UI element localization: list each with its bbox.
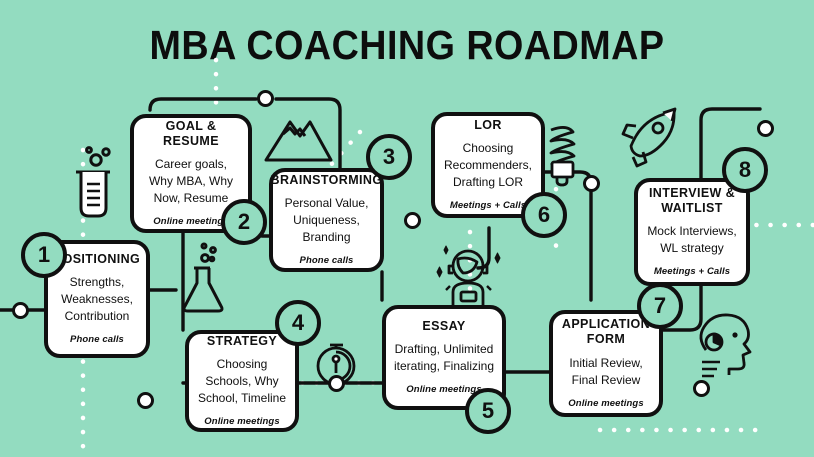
mountain-icon [266,122,331,160]
connector-node-head [693,380,710,397]
badge-number: 7 [654,293,666,319]
card-footer: Meetings + Calls [450,200,526,211]
card-footer: Online meetings [153,216,228,227]
card-title: INTERVIEW & WAITLIST [649,186,735,217]
roadmap-canvas: MBA COACHING ROADMAP [0,0,814,457]
badge-number: 3 [383,144,395,170]
badge-number: 8 [739,157,751,183]
step-card-brainstorming[interactable]: BRAINSTORMING Personal Value, Uniqueness… [269,168,384,272]
connector-node-top-left [257,90,274,107]
card-footer: Online meetings [406,384,481,395]
card-body: Mock Interviews, WL strategy [647,223,736,257]
card-footer: Meetings + Calls [654,266,730,277]
step-badge-5: 5 [465,388,511,434]
card-body: Career goals, Why MBA, Why Now, Resume [149,156,233,207]
step-badge-2: 2 [221,199,267,245]
card-body: Personal Value, Uniqueness, Branding [285,195,369,246]
card-body: Strengths, Weaknesses, Contribution [61,274,133,325]
step-card-application-form[interactable]: APPLICATION FORM Initial Review, Final R… [549,310,663,417]
step-badge-8: 8 [722,147,768,193]
badge-number: 4 [292,310,304,336]
light-bulb-icon [551,127,574,185]
beaker-icon [76,148,110,216]
card-footer: Phone calls [300,255,354,266]
connector-node-top-right [757,120,774,137]
step-badge-6: 6 [521,192,567,238]
astronaut-icon [437,246,500,307]
card-body: Drafting, Unlimited iterating, Finalizin… [394,341,494,375]
card-title: LOR [474,118,502,133]
step-card-interview-waitlist[interactable]: INTERVIEW & WAITLIST Mock Interviews, WL… [634,178,750,286]
card-title: GOAL & RESUME [140,119,242,150]
connector-node-strategy [328,375,345,392]
connector-node-essay [404,212,421,229]
badge-number: 1 [38,242,50,268]
card-title: APPLICATION FORM [562,317,650,348]
card-footer: Online meetings [204,416,279,427]
card-title: ESSAY [422,319,465,334]
rocket-icon [623,109,675,166]
connector-node-left [12,302,29,319]
step-badge-3: 3 [366,134,412,180]
connector-node-mid-left [137,392,154,409]
card-footer: Online meetings [568,398,643,409]
card-body: Initial Review, Final Review [569,355,642,389]
card-body: Choosing Schools, Why School, Timeline [198,356,286,407]
card-title: BRAINSTORMING [271,173,383,188]
step-badge-7: 7 [637,283,683,329]
flask-icon [184,244,222,311]
card-footer: Phone calls [70,334,124,345]
connector-node-lor [583,175,600,192]
step-badge-4: 4 [275,300,321,346]
badge-number: 5 [482,398,494,424]
head-gear-icon [701,315,750,376]
badge-number: 6 [538,202,550,228]
step-card-strategy[interactable]: STRATEGY Choosing Schools, Why School, T… [185,330,299,432]
badge-number: 2 [238,209,250,235]
card-body: Choosing Recommenders, Drafting LOR [444,140,532,191]
step-badge-1: 1 [21,232,67,278]
card-title: STRATEGY [207,334,277,349]
